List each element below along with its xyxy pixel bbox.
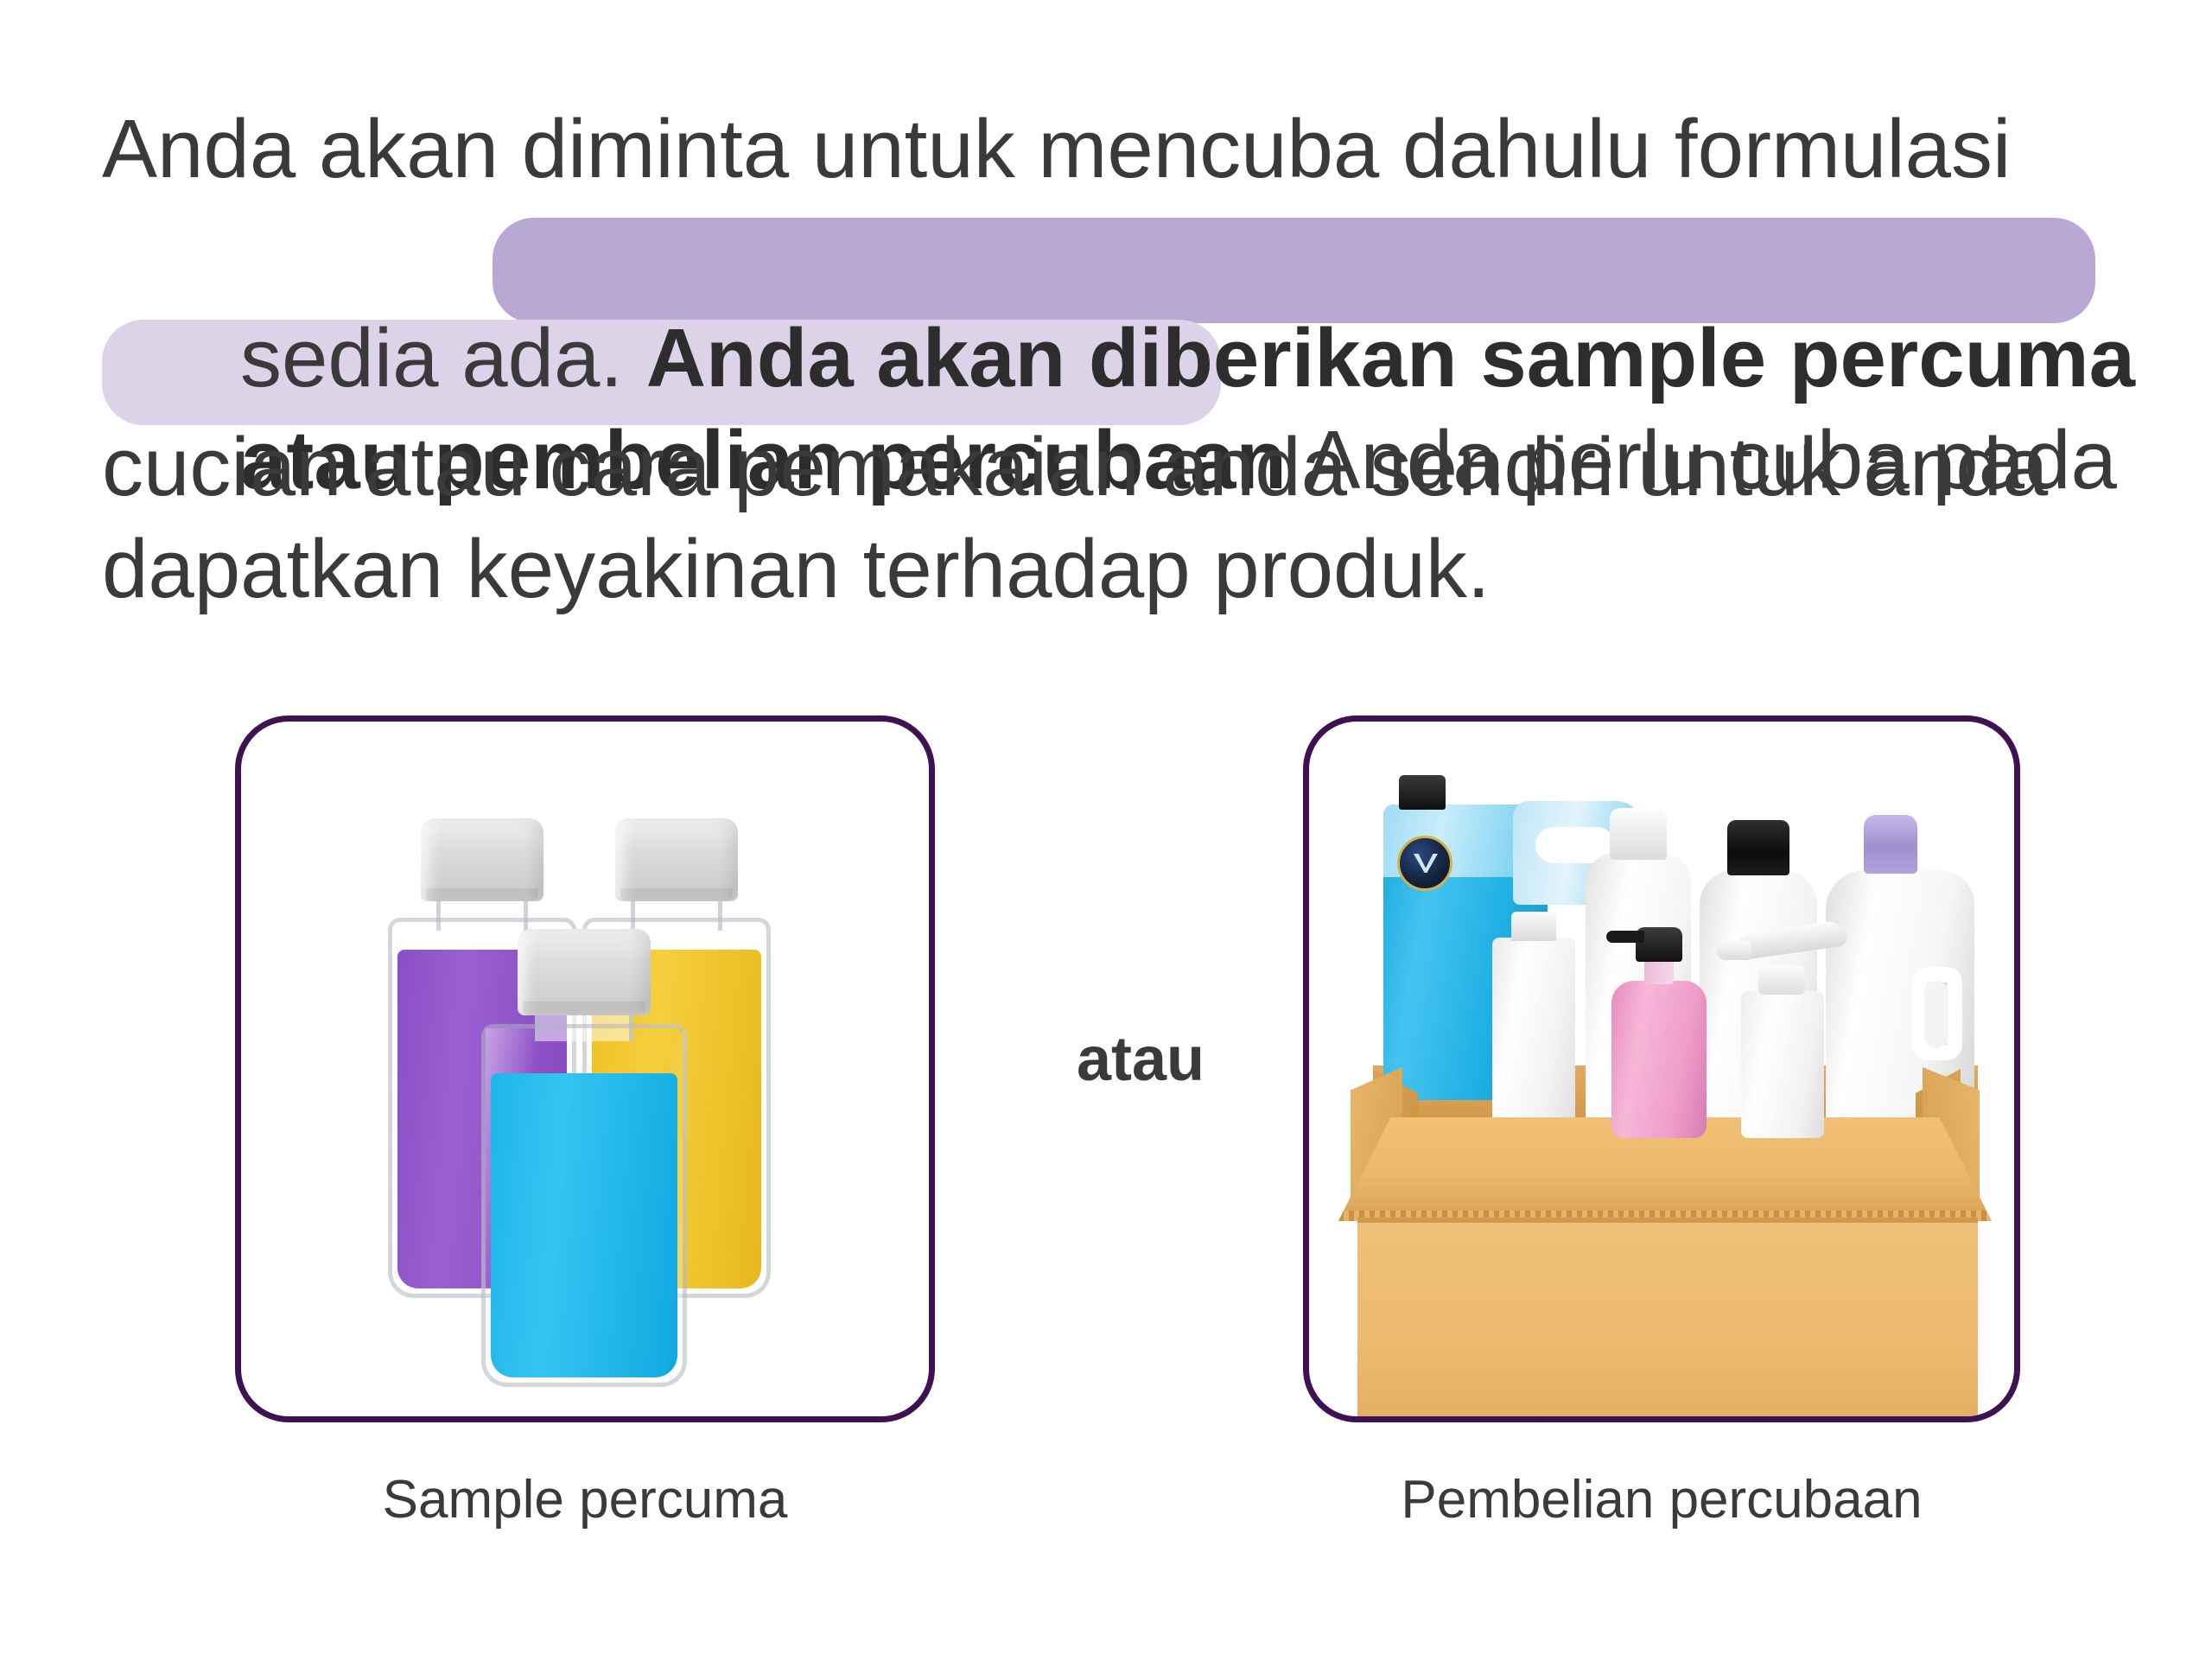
paragraph-line-1: Anda akan diminta untuk mencuba dahulu f… [102,102,2011,197]
sample-percuma-card[interactable] [235,716,935,1422]
jug-black-cap [1399,775,1446,810]
separator-label-atau: atau [1011,1024,1270,1095]
paragraph-line-4: cucian atau cara pemakaian anda sendiri … [102,420,2048,515]
pembelian-percubaan-card[interactable] [1303,716,2020,1422]
box-front-face [1357,1218,1978,1422]
trigger-spray-bottle [1741,991,1824,1138]
spray-nozzle [1717,941,1751,960]
bottle-cap [518,929,651,1015]
white-cap-small [1511,912,1556,941]
dispenser-spout [1606,931,1644,943]
bottle-cap [615,818,738,901]
slide-root: Anda akan diminta untuk mencuba dahulu f… [0,0,2212,1660]
pink-soap-dispenser [1611,981,1707,1138]
caption-sample-percuma: Sample percuma [235,1469,935,1530]
paragraph-line-5: dapatkan keyakinan terhadap produk. [102,522,1491,617]
small-white-bottle [1492,938,1575,1136]
jug-emblem-label [1397,836,1452,891]
sample-bottles-image [241,722,929,1416]
blue-sample-bottle [481,929,687,1387]
spray-neck [1758,965,1805,995]
bottle-glass [481,1024,687,1387]
jug-grip-hole [1924,981,1948,1048]
dispenser-neck [1644,958,1674,984]
white-cap [1610,808,1667,860]
bottle-cap [421,818,543,901]
black-cap [1727,820,1789,875]
purple-cap [1864,815,1917,874]
bottle-liquid-blue [491,1073,677,1377]
cleaning-products-box-image [1309,722,2014,1416]
caption-pembelian-percubaan: Pembelian percubaan [1277,1469,2046,1530]
